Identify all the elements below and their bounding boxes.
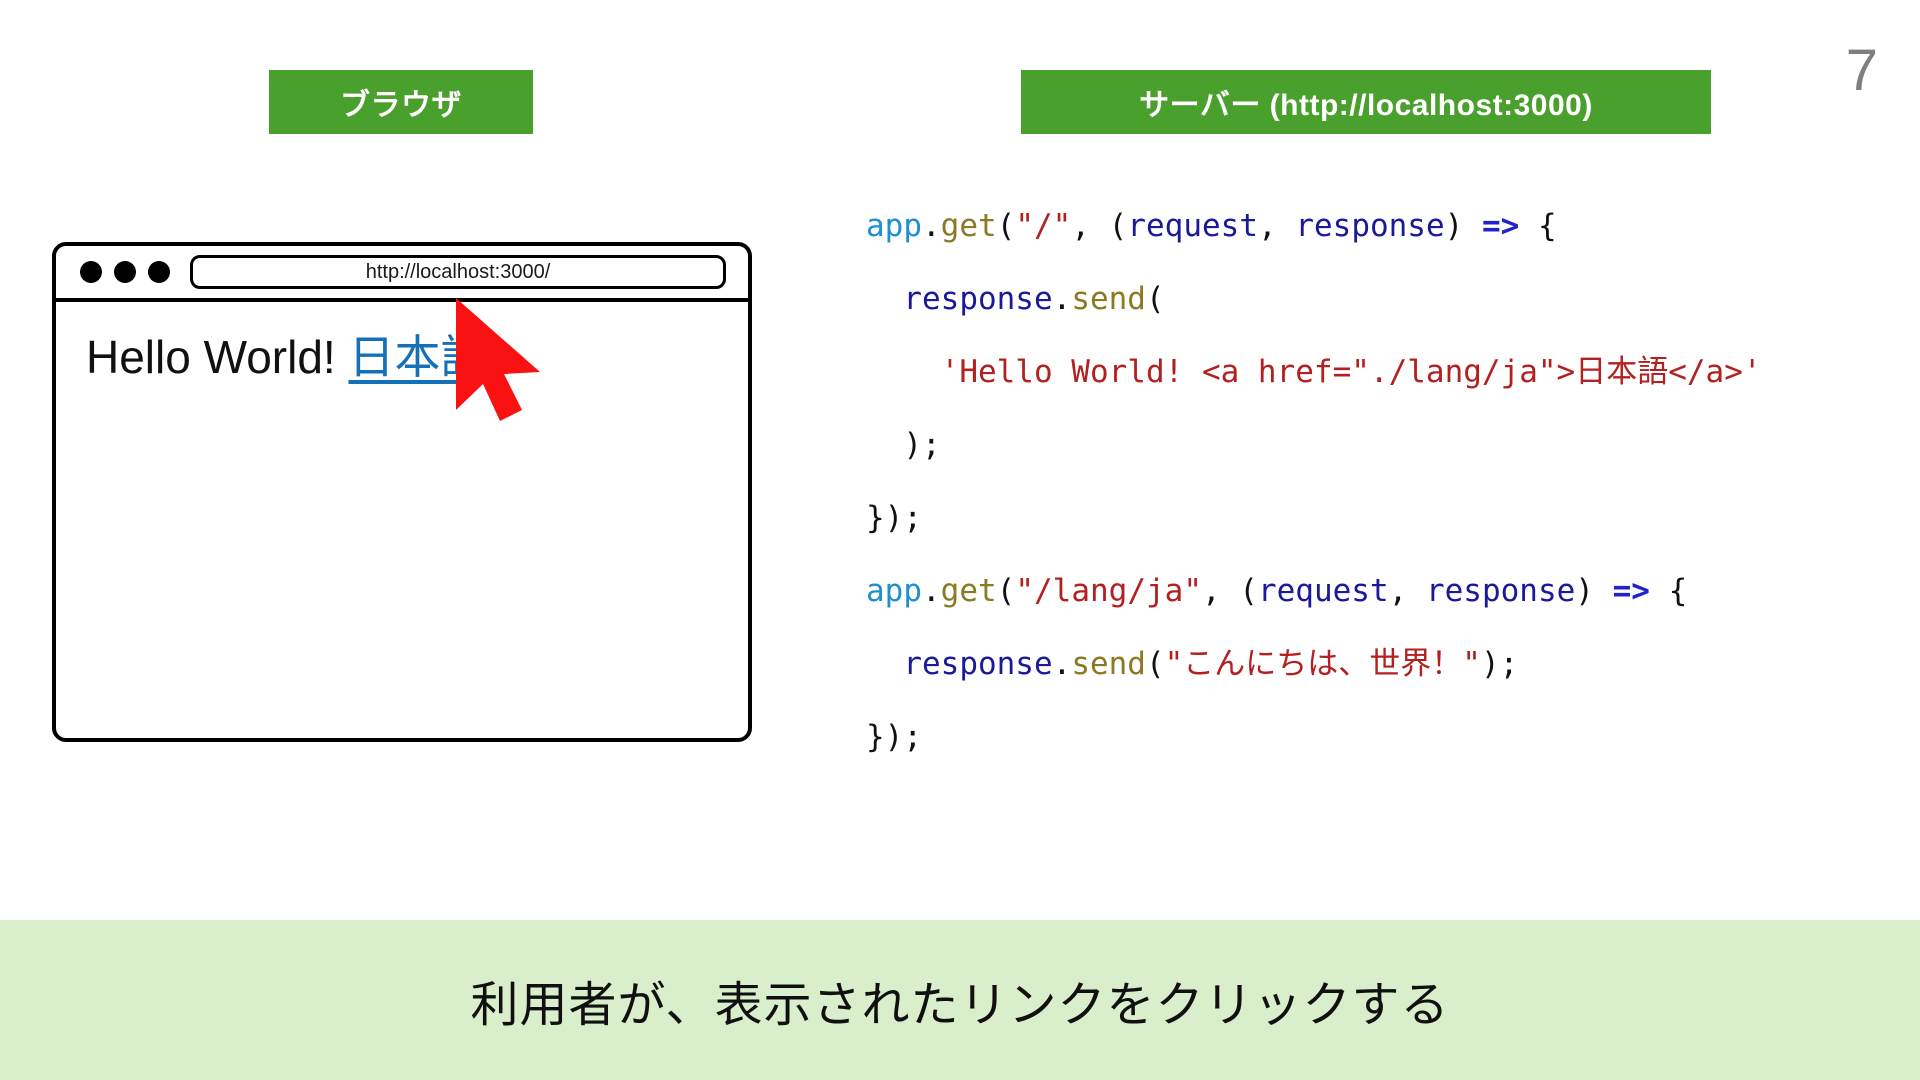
code-token: , (	[1071, 208, 1127, 244]
server-code-block: app.get("/", (request, response) => { re…	[866, 190, 1762, 774]
code-token: .	[1053, 281, 1072, 317]
code-token: response	[1295, 208, 1444, 244]
code-token: (	[997, 208, 1016, 244]
code-token: .	[922, 208, 941, 244]
code-token: });	[866, 719, 922, 755]
code-token: response	[903, 646, 1052, 682]
code-token: app	[866, 573, 922, 609]
caption-band: 利用者が、表示されたリンクをクリックする	[0, 920, 1920, 1080]
code-line: response.send("こんにちは、世界！");	[866, 628, 1762, 701]
code-token: .	[1053, 646, 1072, 682]
code-line: response.send(	[866, 263, 1762, 336]
browser-chrome: http://localhost:3000/	[56, 246, 748, 302]
code-line: );	[866, 409, 1762, 482]
banner-server-label: サーバー (http://localhost:3000)	[1139, 80, 1593, 124]
code-token: ,	[1389, 573, 1426, 609]
banner-server: サーバー (http://localhost:3000)	[1021, 70, 1711, 134]
banner-browser: ブラウザ	[269, 70, 533, 134]
code-token: {	[1650, 573, 1687, 609]
code-token: "/"	[1015, 208, 1071, 244]
url-bar[interactable]: http://localhost:3000/	[190, 255, 726, 289]
window-dot-2-icon[interactable]	[114, 261, 136, 283]
code-token: send	[1071, 281, 1146, 317]
code-token: get	[941, 208, 997, 244]
window-dot-1-icon[interactable]	[80, 261, 102, 283]
code-line: });	[866, 701, 1762, 774]
code-token: 'Hello World! <a href="./lang/ja">日本語</a…	[941, 354, 1762, 390]
code-token: send	[1071, 646, 1146, 682]
rendered-page-text: Hello World! 日本語	[86, 330, 718, 385]
code-token: response	[1426, 573, 1575, 609]
page-number: 7	[1846, 42, 1878, 100]
code-token: "/lang/ja"	[1015, 573, 1202, 609]
code-token: request	[1258, 573, 1389, 609]
window-control-dots	[80, 261, 170, 283]
code-token: (	[1146, 281, 1165, 317]
code-token	[866, 646, 903, 682]
code-token	[866, 354, 941, 390]
page-text-prefix: Hello World!	[86, 331, 348, 383]
code-token: (	[1146, 646, 1165, 682]
slide-root: 7 ブラウザ サーバー (http://localhost:3000) http…	[0, 0, 1920, 1080]
banner-browser-label: ブラウザ	[340, 80, 462, 124]
url-text: http://localhost:3000/	[366, 261, 551, 284]
code-token: request	[1127, 208, 1258, 244]
code-token: , (	[1202, 573, 1258, 609]
code-line: app.get("/lang/ja", (request, response) …	[866, 555, 1762, 628]
code-token: );	[866, 427, 941, 463]
code-token: =>	[1613, 573, 1650, 609]
code-token: ,	[1258, 208, 1295, 244]
code-token: });	[866, 500, 922, 536]
code-token: app	[866, 208, 922, 244]
browser-viewport: Hello World! 日本語	[56, 302, 748, 738]
code-token	[866, 281, 903, 317]
code-line: });	[866, 482, 1762, 555]
code-token: "こんにちは、世界！"	[1165, 646, 1481, 682]
code-line: app.get("/", (request, response) => {	[866, 190, 1762, 263]
browser-window-mockup: http://localhost:3000/ Hello World! 日本語	[52, 242, 752, 742]
code-token: .	[922, 573, 941, 609]
code-token: )	[1445, 208, 1482, 244]
page-link-japanese[interactable]: 日本語	[348, 331, 486, 383]
code-token: )	[1575, 573, 1612, 609]
window-dot-3-icon[interactable]	[148, 261, 170, 283]
code-token: {	[1519, 208, 1556, 244]
caption-text: 利用者が、表示されたリンクをクリックする	[470, 965, 1449, 1035]
code-token: =>	[1482, 208, 1519, 244]
code-token: (	[997, 573, 1016, 609]
code-line: 'Hello World! <a href="./lang/ja">日本語</a…	[866, 336, 1762, 409]
code-token: get	[941, 573, 997, 609]
code-token: response	[903, 281, 1052, 317]
code-token: );	[1481, 646, 1518, 682]
